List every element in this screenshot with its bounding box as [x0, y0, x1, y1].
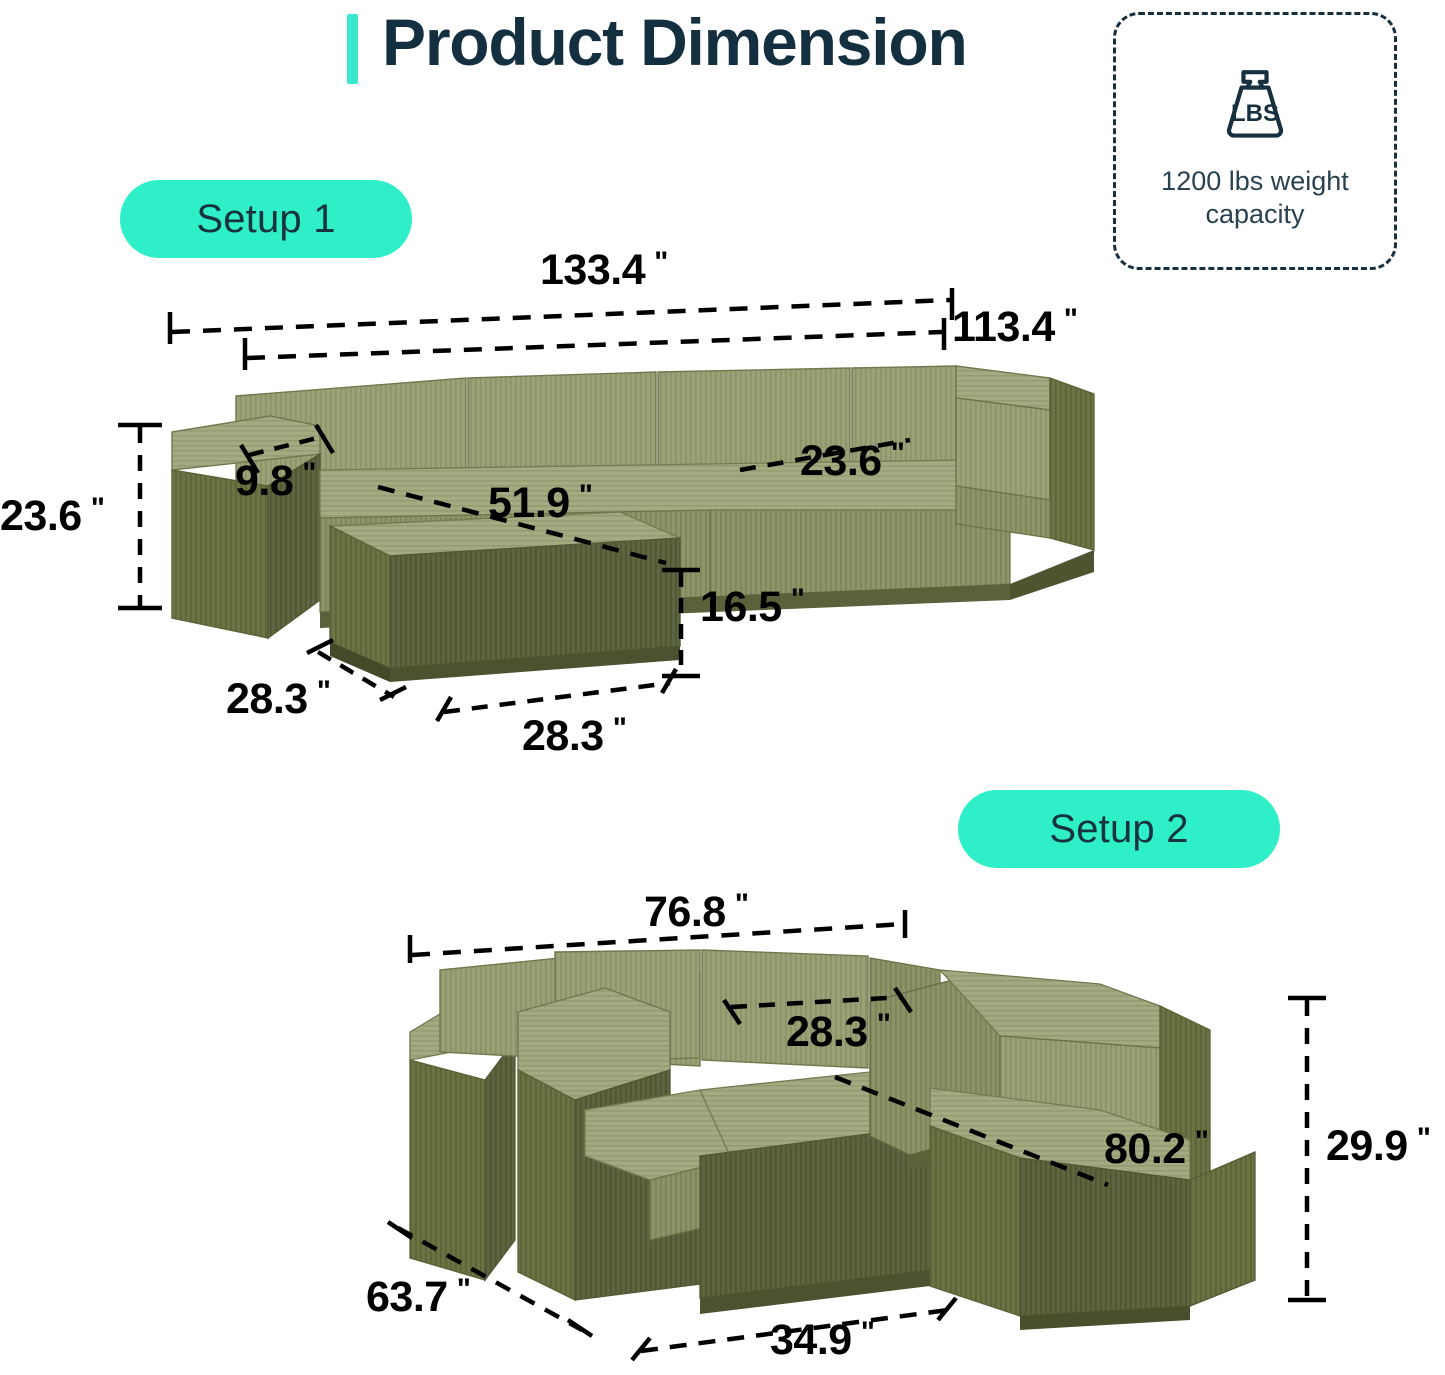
dim-setup1-overall-height: 23.6" — [0, 492, 104, 541]
dim-setup1-seat-height: 16.5" — [700, 583, 804, 632]
dim-setup1-seat-depth: 23.6" — [800, 437, 904, 486]
dim-setup1-armrest-width: 9.8" — [235, 457, 316, 506]
dim-setup1-overall-width: 133.4" — [540, 246, 668, 295]
weight-capacity-caption: 1200 lbs weight capacity — [1130, 165, 1380, 231]
dim-setup2-overall-depth: 80.2" — [1104, 1125, 1208, 1174]
dim-setup1-chaise-width: 28.3" — [522, 712, 626, 761]
page-title: Product Dimension — [382, 4, 967, 80]
dim-setup2-side-depth: 63.7" — [366, 1273, 470, 1322]
dim-setup1-sofa-width: 113.4" — [952, 303, 1077, 352]
setup-1-pill: Setup 1 — [120, 180, 412, 258]
dim-setup2-overall-height: 29.9" — [1326, 1122, 1430, 1171]
dim-setup2-module-width: 34.9" — [770, 1316, 874, 1365]
weight-lbs-icon: LBS — [1207, 53, 1303, 149]
setup-1-sofa-illustration — [150, 350, 1110, 690]
weight-capacity-badge: LBS 1200 lbs weight capacity — [1113, 12, 1397, 270]
dim-setup2-backrest-width: 28.3" — [786, 1008, 890, 1057]
dim-setup1-chaise-depth: 51.9" — [488, 479, 592, 528]
setup-2-pill: Setup 2 — [958, 790, 1280, 868]
title-accent-bar — [347, 14, 358, 84]
dim-setup2-overall-width: 76.8" — [644, 888, 748, 937]
dim-setup1-module-depth: 28.3" — [226, 675, 330, 724]
svg-text:LBS: LBS — [1231, 100, 1279, 127]
